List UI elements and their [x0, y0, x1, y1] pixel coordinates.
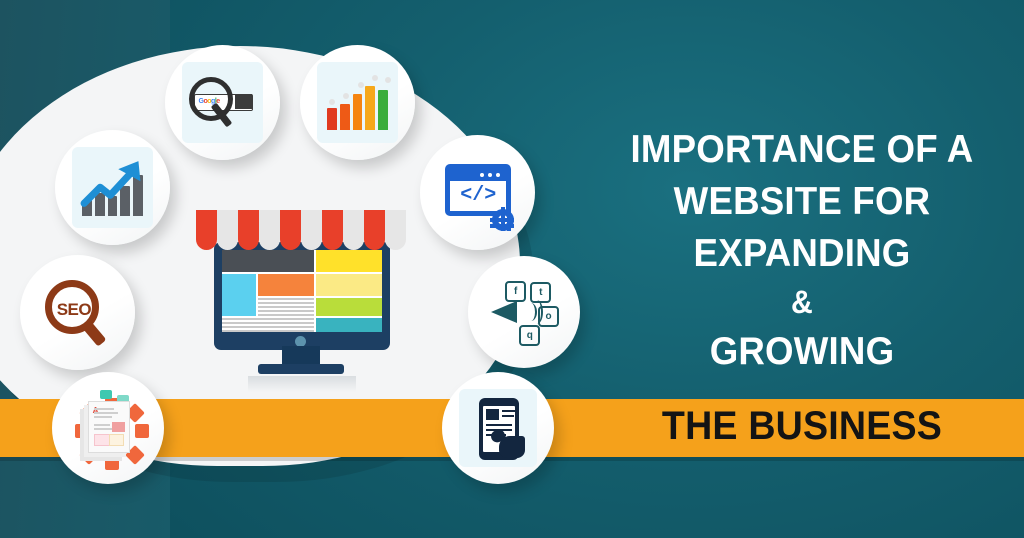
- online-store-monitor: [196, 196, 406, 386]
- headline-line-3: EXPANDING: [593, 234, 1010, 273]
- twitter-icon: t: [530, 282, 551, 303]
- document-block-cream: [109, 434, 124, 446]
- seo-magnifier-icon: SEO: [37, 272, 118, 353]
- monitor-screen: [222, 250, 382, 332]
- seo-label: SEO: [47, 300, 101, 320]
- chip-teal: [100, 390, 112, 399]
- content-marketing-icon: A: [69, 389, 147, 467]
- search-magnifier-icon: Google: [182, 62, 263, 143]
- colored-bar-chart-icon: [317, 62, 398, 143]
- icon-circle-content[interactable]: A: [52, 372, 164, 484]
- icon-circle-seo[interactable]: SEO: [20, 255, 135, 370]
- smartphone-graphic: [479, 398, 519, 460]
- headline-highlight: THE BUSINESS: [593, 406, 1010, 446]
- search-submit-graphic: [235, 94, 252, 109]
- headline-block: IMPORTANCE OF A WEBSITE FOR EXPANDING & …: [580, 130, 1024, 384]
- browser-titlebar: [450, 169, 506, 181]
- promo-banner: Google: [0, 0, 1024, 538]
- instagram-icon: o: [538, 306, 559, 327]
- icon-circle-social[interactable]: f t o q: [468, 256, 580, 368]
- social-share-icon: q: [519, 325, 540, 346]
- social-media-megaphone-icon: f t o q: [485, 273, 563, 351]
- headline-line-growing: GROWING: [593, 332, 1010, 371]
- icon-circle-growth[interactable]: [55, 130, 170, 245]
- hand-tap-icon: [499, 436, 525, 458]
- headline-ampersand: &: [593, 286, 1010, 318]
- facebook-icon: f: [505, 281, 526, 302]
- phone-image-block: [486, 409, 499, 420]
- icon-circle-development[interactable]: </>: [420, 135, 535, 250]
- icon-circle-analytics[interactable]: [300, 45, 415, 160]
- monitor-reflection: [248, 376, 356, 392]
- store-awning: [196, 210, 406, 256]
- monitor-base: [258, 364, 344, 374]
- magnifier-handle: [83, 322, 107, 347]
- magnifier-lens: [189, 77, 233, 121]
- gear-icon: [492, 209, 514, 231]
- code-brackets-glyph: </>: [445, 184, 511, 207]
- headline-line-1: IMPORTANCE OF A: [593, 130, 1010, 169]
- megaphone-icon: [491, 301, 525, 323]
- icon-circle-search[interactable]: Google: [165, 45, 280, 160]
- upward-arrow: [72, 147, 153, 228]
- headline-line-2: WEBSITE FOR: [593, 182, 1010, 221]
- web-development-code-icon: </>: [437, 152, 518, 233]
- document-thumbnail: [112, 422, 125, 432]
- mobile-responsive-icon: [459, 389, 537, 467]
- document-stack: A: [88, 401, 130, 453]
- icon-circle-mobile[interactable]: [442, 372, 554, 484]
- bar-group: [327, 82, 388, 130]
- growth-arrow-chart-icon: [72, 147, 153, 228]
